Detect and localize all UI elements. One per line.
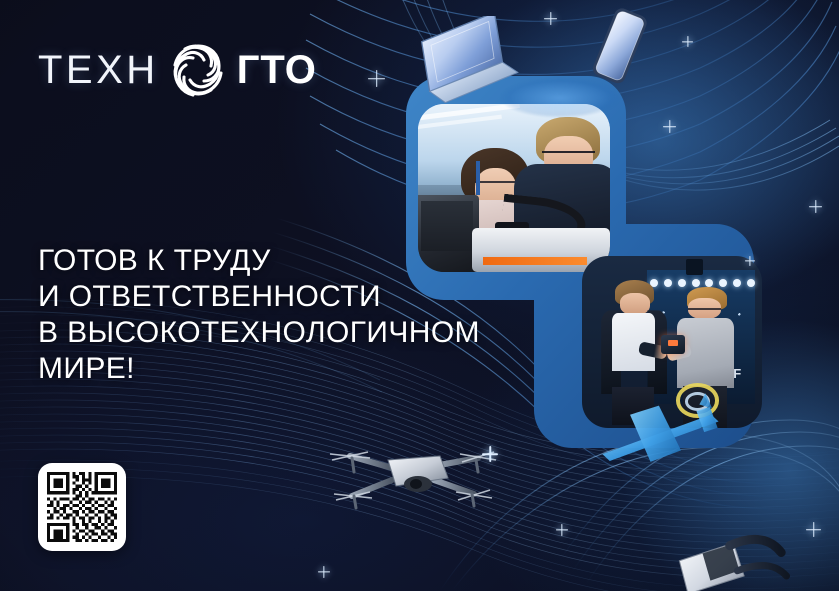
model-airplane-icon — [594, 392, 724, 478]
headline-line-2: И ОТВЕТСТВЕННОСТИ — [38, 279, 558, 315]
logo-word-tech: ТЕХН — [38, 50, 159, 90]
poster-root: D F — [0, 0, 839, 591]
headline-line-1: ГОТОВ К ТРУДУ — [38, 243, 558, 279]
headline-line-4: МИРЕ! — [38, 351, 558, 387]
brand-logo[interactable]: ТЕХН ГТО — [38, 40, 317, 100]
drone-icon — [322, 434, 498, 512]
vr-headset-icon — [666, 532, 790, 591]
logo-word-gto: ГТО — [237, 50, 317, 90]
qr-code-icon[interactable] — [38, 463, 126, 551]
headline-line-3: В ВЫСОКОТЕХНОЛОГИЧНОМ — [38, 315, 558, 351]
laptop-icon — [415, 16, 519, 108]
smartphone-icon — [588, 2, 652, 94]
page-title: ГОТОВ К ТРУДУ И ОТВЕТСТВЕННОСТИ В ВЫСОКО… — [38, 243, 558, 387]
woven-circle-petals-icon — [167, 39, 229, 101]
